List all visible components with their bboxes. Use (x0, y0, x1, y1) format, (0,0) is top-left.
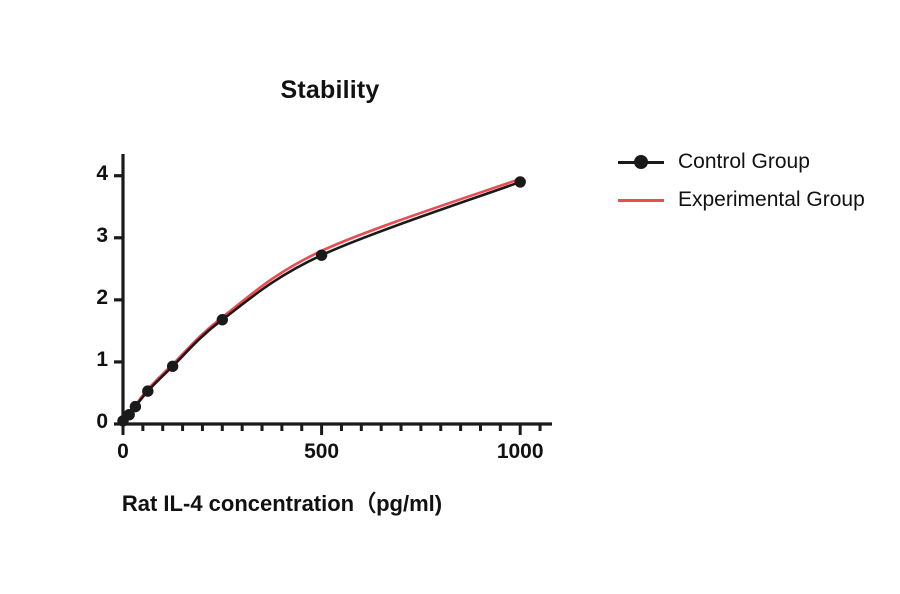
legend-key-control-group (618, 151, 664, 173)
legend-item-experimental-group[interactable]: Experimental Group (618, 181, 898, 219)
legend-item-control-group[interactable]: Control Group (618, 143, 898, 181)
data-point-marker (143, 386, 153, 396)
y-tick-label-0: 0 (68, 410, 108, 434)
chart-title: Stability (0, 76, 660, 105)
data-point-marker (316, 250, 326, 260)
series-control-group (118, 177, 526, 426)
chart-figure: Stability OD Value(450nm) Rat IL-4 conce… (0, 0, 900, 594)
legend-key-experimental-group (618, 189, 664, 211)
x-axis-title: Rat IL-4 concentration（pg/ml) (22, 486, 542, 518)
legend-label-control-group: Control Group (678, 150, 810, 174)
x-tick-label-1: 500 (277, 440, 367, 464)
data-point-marker (130, 401, 140, 411)
chart-legend: Control Group Experimental Group (618, 143, 898, 219)
data-point-marker (217, 315, 227, 325)
y-tick-label-2: 2 (68, 286, 108, 310)
data-point-marker (515, 177, 525, 187)
series-line (123, 182, 520, 421)
y-tick-label-1: 1 (68, 348, 108, 372)
legend-line-icon (618, 199, 664, 202)
y-tick-label-3: 3 (68, 224, 108, 248)
plot-svg (113, 148, 556, 436)
legend-label-experimental-group: Experimental Group (678, 188, 865, 212)
x-tick-label-0: 0 (78, 440, 168, 464)
x-tick-label-2: 1000 (475, 440, 565, 464)
series-experimental-group (123, 179, 520, 420)
plot-area (113, 148, 556, 436)
legend-marker-circle-icon (634, 155, 648, 169)
data-point-marker (167, 361, 177, 371)
series-line (123, 179, 520, 420)
y-tick-label-4: 4 (68, 162, 108, 186)
